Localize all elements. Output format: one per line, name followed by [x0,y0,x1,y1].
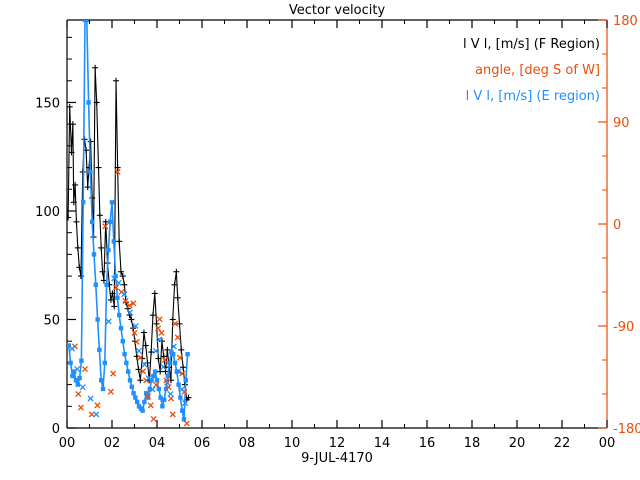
chart-legend: l V l, [m/s] (F Region)angle, [deg S of … [463,37,600,104]
y-right-tick-label: -180 [613,422,640,437]
data-marker-square [81,200,85,204]
y-right-tick-label: 90 [613,116,630,131]
vector-velocity-plot: Vector velocity 000204060810121416182022… [0,0,640,480]
x-tick-label: 20 [509,436,526,451]
data-marker-square [104,283,108,287]
data-marker-square [180,408,184,412]
x-tick-label: 10 [284,436,301,451]
y-left-tick-label: 100 [35,205,60,220]
data-marker-square [155,378,159,382]
x-tick-label: 18 [464,436,481,451]
data-marker-square [92,252,96,256]
x-tick-label: 06 [194,436,211,451]
data-marker-square [184,378,188,382]
x-tick-label: 02 [104,436,121,451]
chart-title: Vector velocity [289,3,386,18]
data-marker-square [128,378,132,382]
data-marker-square [124,361,128,365]
x-tick-label: 04 [149,436,166,451]
data-marker-square [90,220,94,224]
data-marker-square [182,417,186,421]
data-marker-square [162,398,166,402]
data-marker-square [167,361,171,365]
x-tick-label: 00 [59,436,76,451]
data-marker-square [140,408,144,412]
data-marker-square [115,296,119,300]
data-marker-square [130,385,134,389]
data-marker-square [178,395,182,399]
x-tick-label: 14 [374,436,391,451]
data-marker-square [95,317,99,321]
data-marker-square [151,374,155,378]
y-right-tick-label: 0 [613,218,621,233]
x-tick-label: 12 [329,436,346,451]
data-marker-square [121,339,125,343]
data-marker-square [106,248,110,252]
data-marker-square [176,382,180,386]
data-marker-square [135,400,139,404]
data-marker-square [101,387,105,391]
data-marker-square [97,348,101,352]
data-marker-square [117,313,121,317]
x-axis-label: 9-JUL-4170 [301,451,373,466]
data-marker-square [112,239,116,243]
data-marker-square [173,361,177,365]
data-marker-square [122,352,126,356]
data-marker-square [126,369,130,373]
legend-item-e-region-speed: l V l, [m/s] (E region) [466,89,600,104]
data-marker-square [108,220,112,224]
data-marker-square [76,382,80,386]
legend-item-f-region-speed: l V l, [m/s] (F Region) [463,37,600,52]
chart-root: Vector velocity 000204060810121416182022… [0,0,640,480]
data-marker-square [88,170,92,174]
data-marker-square [185,352,189,356]
data-marker-square [99,378,103,382]
data-marker-square [77,376,81,380]
x-tick-label: 16 [419,436,436,451]
data-marker-square [131,391,135,395]
data-marker-square [119,326,123,330]
legend-item-angle: angle, [deg S of W] [475,63,600,78]
y-left-tick-label: 50 [43,313,60,328]
x-tick-label: 08 [239,436,256,451]
data-marker-square [79,359,83,363]
y-left-tick-label: 150 [35,96,60,111]
x-tick-label: 22 [554,436,571,451]
x-tick-label: 00 [599,436,616,451]
data-marker-square [86,100,90,104]
data-marker-square [94,283,98,287]
data-marker-square [133,395,137,399]
data-marker-square [68,361,72,365]
data-marker-square [153,369,157,373]
data-marker-square [160,404,164,408]
y-right-tick-label: -90 [613,320,634,335]
y-right-tick-label: 180 [613,14,638,29]
data-marker-square [171,352,175,356]
data-marker-square [103,361,107,365]
data-marker-square [142,400,146,404]
data-marker-square [70,374,74,378]
data-marker-square [166,374,170,378]
y-left-tick-label: 0 [52,422,60,437]
data-marker-square [110,200,114,204]
